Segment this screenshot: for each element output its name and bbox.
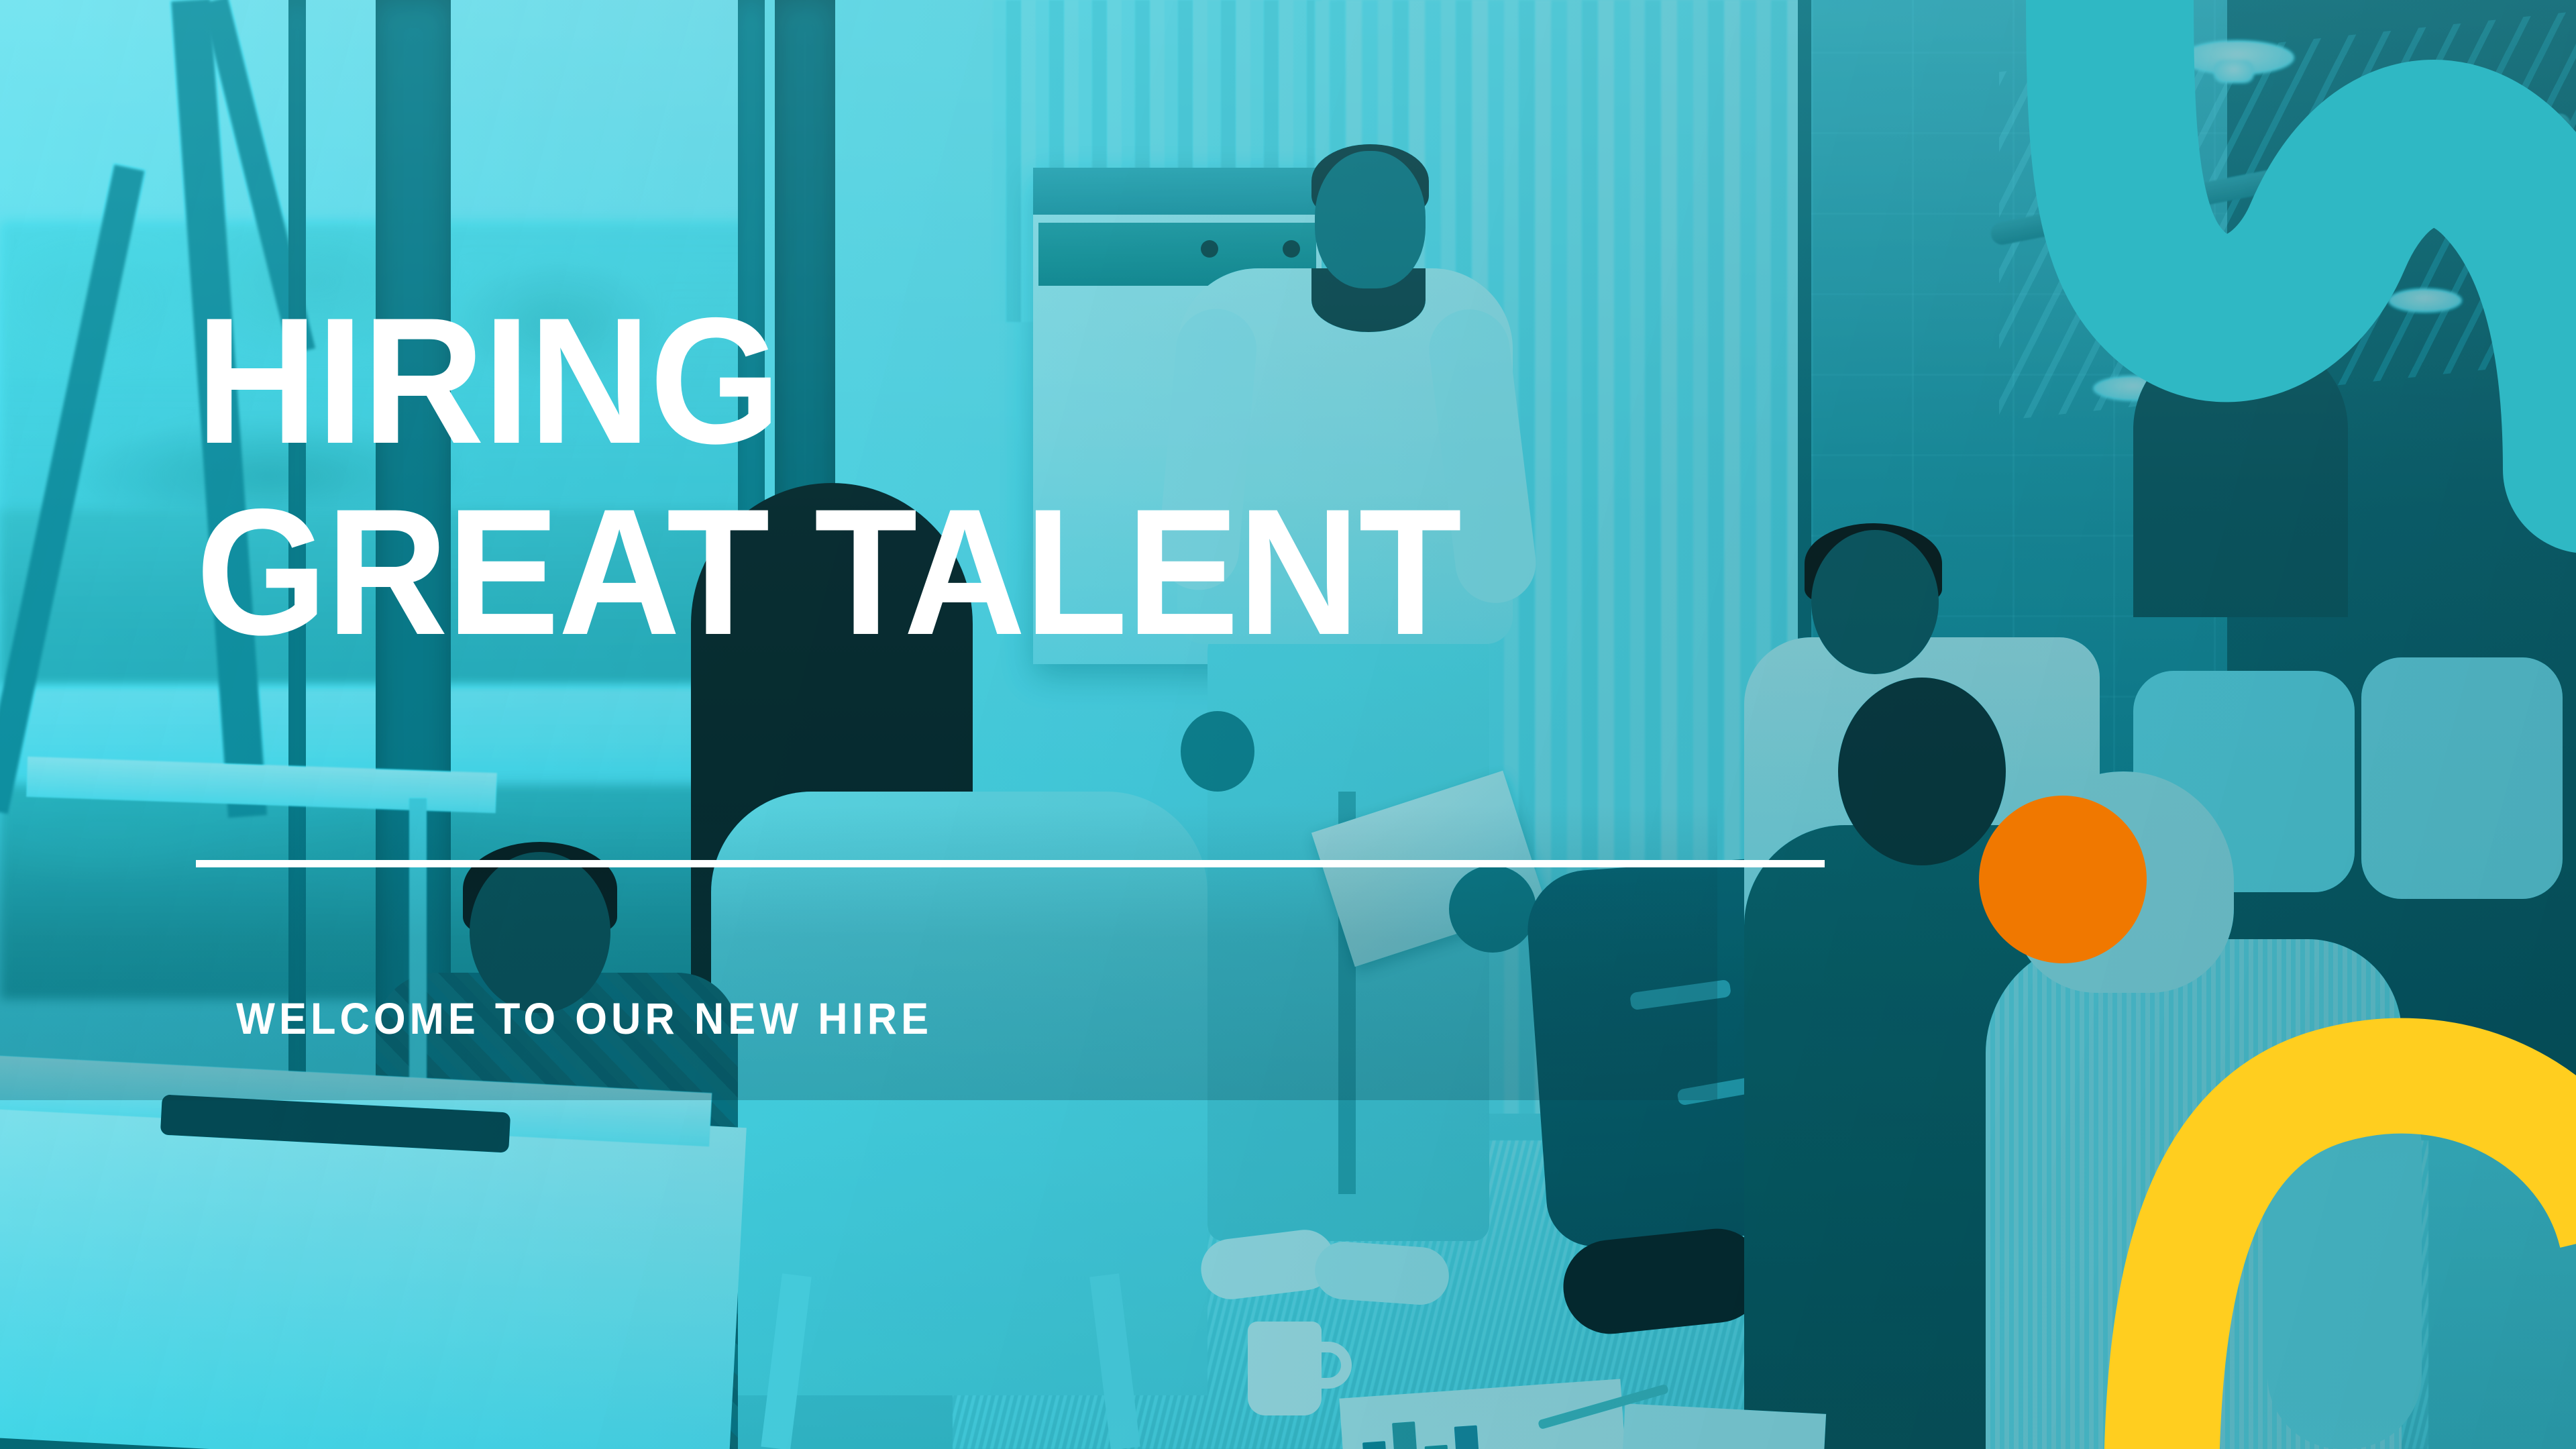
headline-line-2: GREAT TALENT <box>196 496 1460 647</box>
poster-canvas: HIRING GREAT TALENT WELCOME TO OUR NEW H… <box>0 0 2576 1449</box>
lower-shade-band <box>0 805 1717 1100</box>
duotone-screen-layer <box>0 0 2576 1449</box>
subheadline: WELCOME TO OUR NEW HIRE <box>236 993 932 1044</box>
divider-rule <box>196 860 1825 867</box>
headline-line-1: HIRING <box>196 305 780 456</box>
